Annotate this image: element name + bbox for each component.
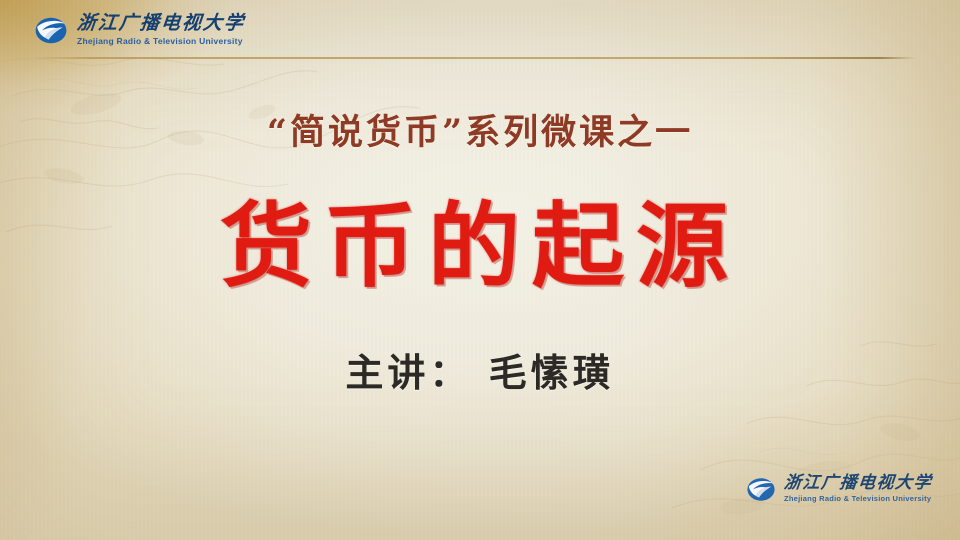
slide-header: 浙江广播电视大学 Zhejiang Radio & Television Uni…	[0, 0, 960, 58]
university-name-cn: 浙江广播电视大学	[783, 475, 933, 492]
university-name-en: Zhejiang Radio & Television University	[77, 37, 245, 46]
swoosh-circle-logo-icon	[746, 474, 776, 504]
university-name-en: Zhejiang Radio & Television University	[784, 495, 932, 503]
university-brand-text: 浙江广播电视大学 Zhejiang Radio & Television Uni…	[784, 475, 932, 503]
university-brand-header: 浙江广播电视大学 Zhejiang Radio & Television Uni…	[34, 13, 245, 47]
university-brand-footer: 浙江广播电视大学 Zhejiang Radio & Television Uni…	[746, 474, 932, 504]
swoosh-circle-logo-icon	[34, 13, 68, 47]
presenter-line: 主讲： 毛愫璜	[0, 342, 960, 397]
university-name-cn: 浙江广播电视大学	[76, 14, 246, 33]
title-slide: 浙江广播电视大学 Zhejiang Radio & Television Uni…	[0, 0, 960, 540]
header-divider	[36, 57, 916, 59]
page-title: 货币的起源	[0, 196, 960, 297]
university-brand-text: 浙江广播电视大学 Zhejiang Radio & Television Uni…	[77, 14, 245, 46]
series-subtitle: “简说货币”系列微课之一	[0, 104, 960, 155]
